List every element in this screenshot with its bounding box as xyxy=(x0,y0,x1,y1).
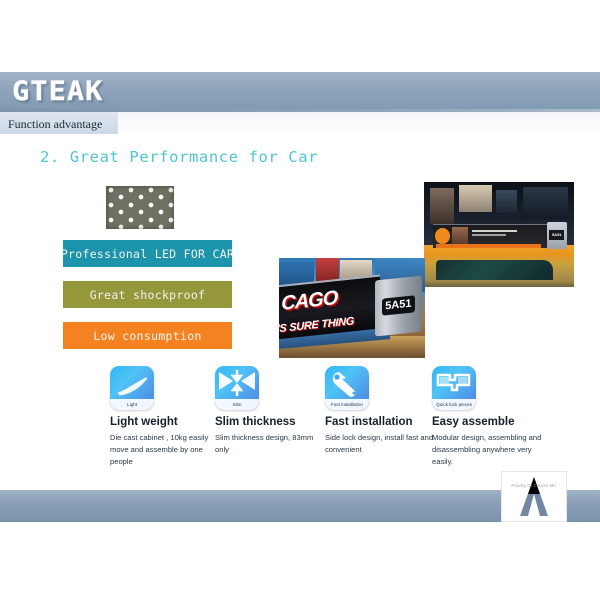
feature-item-fast-installation: Fast installation Fast installation Side… xyxy=(325,366,441,456)
chevron-a-mark-icon xyxy=(502,472,566,521)
top-white-margin xyxy=(0,0,600,72)
brand-logo: GTEAK xyxy=(12,76,103,107)
feature-bar-shockproof: Great shockproof xyxy=(63,281,232,308)
feature-description: Side lock design, install fast and conve… xyxy=(325,432,437,456)
feature-description: Die cast cabinet , 10kg easily move and … xyxy=(110,432,222,467)
background-building xyxy=(430,188,454,224)
taxi-top-led-display xyxy=(433,224,547,248)
display-logo-circle xyxy=(435,228,450,244)
led-module-swatch-image xyxy=(106,186,174,229)
feature-title: Light weight xyxy=(110,416,226,428)
icon-caption: Quick lock pieces xyxy=(432,399,476,410)
feature-description: Modular design, assembling and disassemb… xyxy=(432,432,544,467)
feature-list: Light Light weight Die cast cabinet , 10… xyxy=(0,366,600,476)
bottom-white-margin xyxy=(0,522,600,600)
icon-caption: Slim xyxy=(215,399,259,410)
display-text-line xyxy=(472,234,506,236)
taxi-number-housing: 5A51 xyxy=(375,276,422,337)
feature-title: Easy assemble xyxy=(432,416,548,428)
compress-arrows-icon: Slim xyxy=(215,366,259,410)
feature-bar-label: Professional LED FOR CAR xyxy=(61,247,234,261)
feature-bar-low-consumption: Low consumption xyxy=(63,322,232,349)
display-subline: 'S SURE THING xyxy=(279,315,354,335)
feature-bar-professional-led: Professional LED FOR CAR xyxy=(63,240,232,267)
photo-taxi-day: CAGO 'S SURE THING 5A51 xyxy=(279,258,425,358)
watermark-text: Priority Of Course Mic xyxy=(502,483,566,488)
wrench-icon: Fast installation xyxy=(325,366,369,410)
icon-caption: Fast installation xyxy=(325,399,369,410)
taxi-number-plate: 5A51 xyxy=(549,230,564,241)
tab-function-advantage[interactable]: Function advantage xyxy=(0,112,118,134)
taxi-number-plate: 5A51 xyxy=(382,295,416,315)
photo-taxi-night: 5A51 xyxy=(424,182,574,287)
feature-item-slim-thickness: Slim Slim thickness Slim thickness desig… xyxy=(215,366,331,456)
taxi-hood xyxy=(424,280,574,287)
feature-bar-label: Low consumption xyxy=(93,329,201,343)
display-headline: CAGO xyxy=(281,287,337,316)
feature-title: Slim thickness xyxy=(215,416,331,428)
display-portrait xyxy=(452,227,468,246)
page-title: 2. Great Performance for Car xyxy=(40,148,318,166)
slide-canvas: GTEAK Function advantage 2. Great Perfor… xyxy=(0,0,600,600)
background-building xyxy=(496,190,517,213)
background-building xyxy=(523,187,568,219)
display-text-line xyxy=(472,230,518,232)
interlocking-pieces-icon: Quick lock pieces xyxy=(432,366,476,410)
feature-item-light-weight: Light Light weight Die cast cabinet , 10… xyxy=(110,366,226,467)
display-bottom-strip xyxy=(436,244,541,247)
icon-caption: Light xyxy=(110,399,154,410)
background-building xyxy=(459,185,492,212)
taxi-top-led-display: CAGO 'S SURE THING xyxy=(279,274,380,339)
watermark-logo: Priority Of Course Mic xyxy=(501,471,567,522)
feature-description: Slim thickness design, 83mm only xyxy=(215,432,327,456)
taxi-body xyxy=(424,245,574,287)
feather-icon: Light xyxy=(110,366,154,410)
tab-label: Function advantage xyxy=(8,117,102,131)
feature-item-easy-assemble: Quick lock pieces Easy assemble Modular … xyxy=(432,366,548,467)
taxi-number-housing: 5A51 xyxy=(547,222,567,249)
feature-bar-label: Great shockproof xyxy=(90,288,206,302)
feature-title: Fast installation xyxy=(325,416,441,428)
